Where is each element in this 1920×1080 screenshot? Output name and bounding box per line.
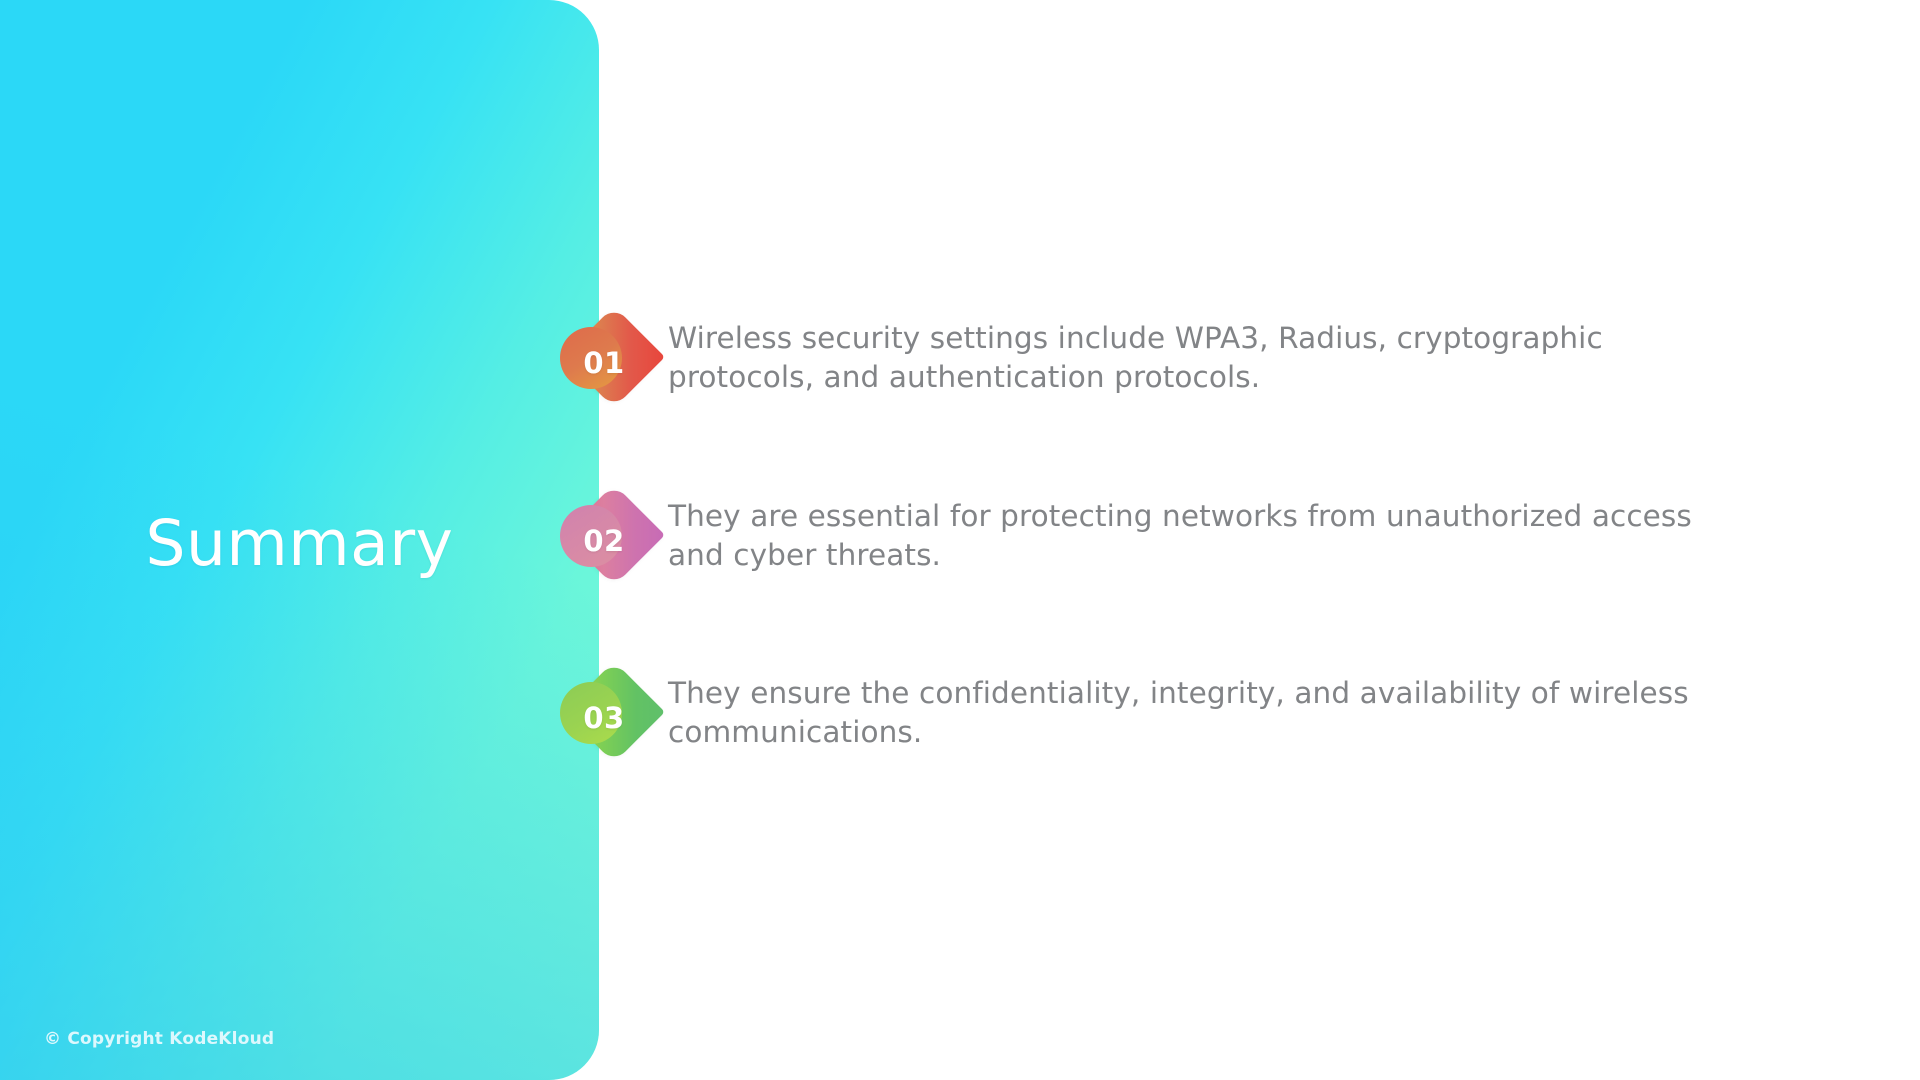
summary-slide: Summary © Copyright KodeKloud 01 Wireles… xyxy=(0,0,1920,1080)
list-item: 01 Wireless security settings include WP… xyxy=(0,303,1920,423)
badge-number-label: 03 xyxy=(552,658,656,778)
badge-number-label: 01 xyxy=(552,303,656,423)
page-title: Summary xyxy=(0,512,599,575)
number-badge-01: 01 xyxy=(552,303,672,423)
badge-number-label: 02 xyxy=(552,481,656,601)
list-item-text: Wireless security settings include WPA3,… xyxy=(668,319,1728,397)
list-item-text: They are essential for protecting networ… xyxy=(668,497,1728,575)
copyright-notice: © Copyright KodeKloud xyxy=(44,1029,274,1049)
list-item: 03 They ensure the confidentiality, inte… xyxy=(0,658,1920,778)
list-item-text: They ensure the confidentiality, integri… xyxy=(668,674,1728,752)
number-badge-03: 03 xyxy=(552,658,672,778)
number-badge-02: 02 xyxy=(552,481,672,601)
